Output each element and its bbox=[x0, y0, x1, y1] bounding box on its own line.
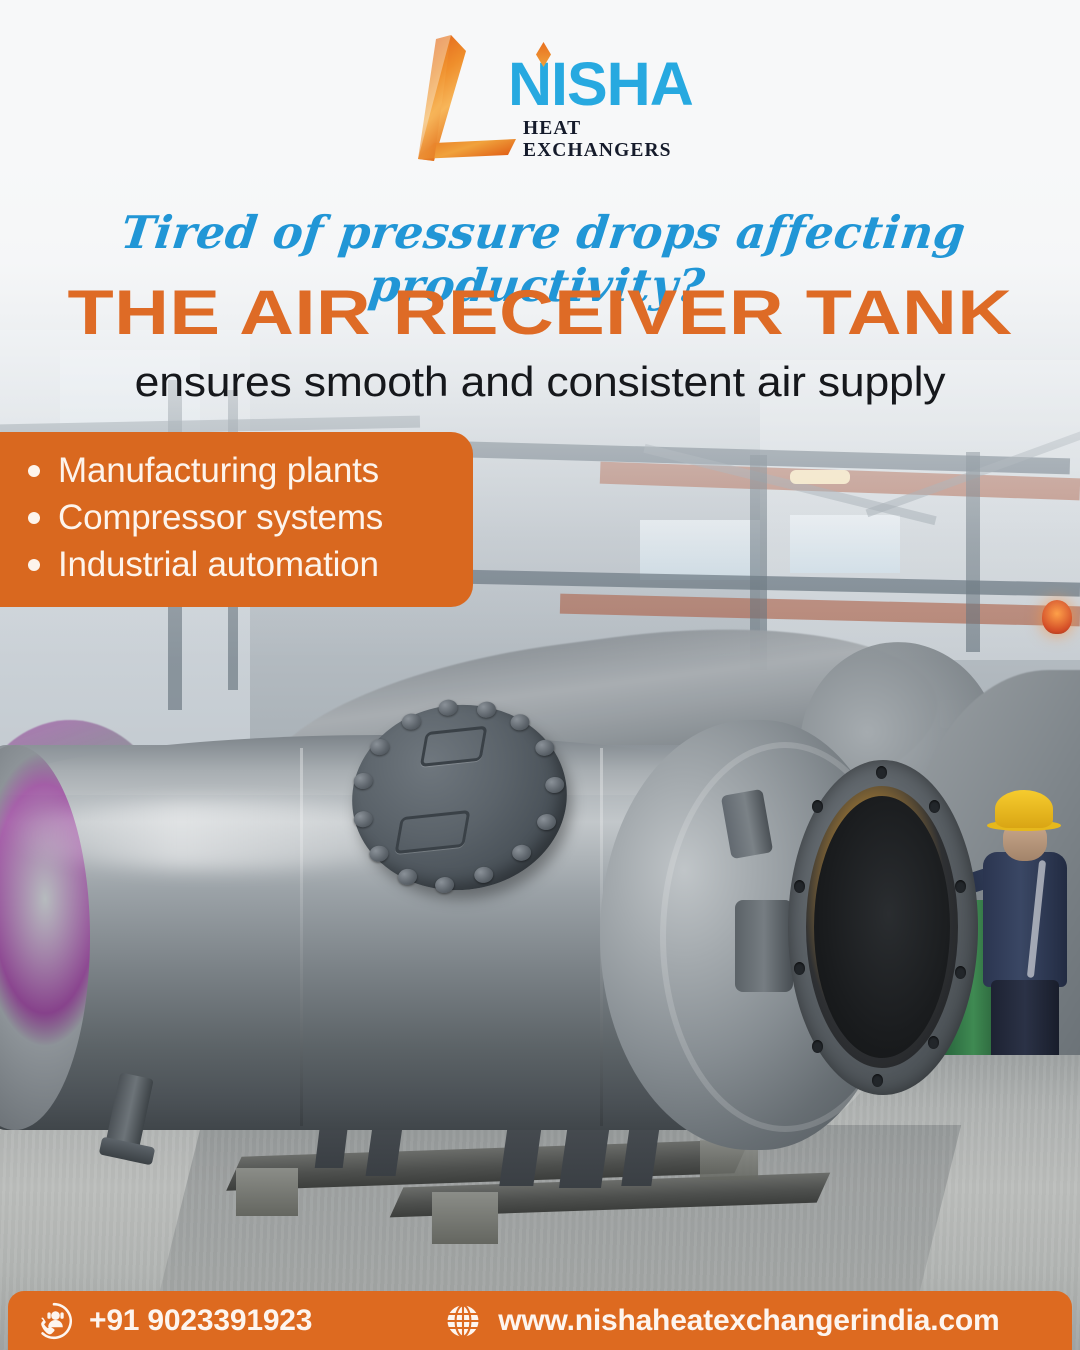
logo-tagline: HEAT EXCHANGERS bbox=[523, 118, 693, 162]
bullet-dot-icon bbox=[28, 465, 40, 477]
manhole-bolt bbox=[353, 772, 374, 790]
manhole-bolt bbox=[544, 776, 565, 794]
flange-bolt-hole bbox=[794, 962, 805, 975]
manhole-bolt bbox=[353, 810, 374, 828]
tank-weld-seam bbox=[300, 748, 303, 1126]
flange-bolt-hole bbox=[812, 800, 823, 813]
manhole-handle-upper bbox=[420, 726, 488, 767]
website-contact[interactable]: www.nishaheatexchangerindia.com bbox=[443, 1301, 999, 1341]
list-item: Industrial automation bbox=[28, 542, 453, 589]
bullet-dot-icon bbox=[28, 512, 40, 524]
manhole-bolt bbox=[536, 813, 557, 831]
contact-footer-bar: +91 9023391923 www.nishaheatexchangerind… bbox=[8, 1291, 1072, 1350]
list-item: Manufacturing plants bbox=[28, 448, 453, 495]
worker-torso bbox=[983, 852, 1067, 987]
product-photo bbox=[0, 0, 1080, 1350]
list-item-label: Manufacturing plants bbox=[58, 448, 379, 495]
manhole-bolt bbox=[476, 701, 497, 719]
social-media-poster: NISHA HEAT EXCHANGERS Tired of pressure … bbox=[0, 0, 1080, 1350]
phone-number: +91 9023391923 bbox=[89, 1304, 312, 1338]
yellow-hard-hat-icon bbox=[995, 790, 1053, 828]
bullet-dot-icon bbox=[28, 559, 40, 571]
manhole-bolt bbox=[438, 699, 459, 717]
website-url: www.nishaheatexchangerindia.com bbox=[498, 1304, 999, 1338]
brand-logo: NISHA HEAT EXCHANGERS bbox=[0, 28, 1080, 178]
flange-bolt-hole bbox=[872, 1074, 883, 1087]
page-title: THE AIR RECEIVER TANK bbox=[0, 277, 1080, 349]
manhole-handle-lower bbox=[394, 810, 470, 854]
nisha-chevron-logo-icon bbox=[390, 33, 520, 173]
manhole-bolt bbox=[510, 713, 531, 731]
flange-bore-opening bbox=[814, 796, 950, 1058]
flange-bolt-hole bbox=[955, 966, 966, 979]
applications-list-box: Manufacturing plants Compressor systems … bbox=[0, 432, 473, 607]
list-item-label: Industrial automation bbox=[58, 542, 379, 589]
manhole-bolt bbox=[397, 868, 418, 886]
list-item-label: Compressor systems bbox=[58, 495, 383, 542]
flange-bolt-hole bbox=[929, 800, 940, 813]
globe-icon bbox=[443, 1301, 483, 1341]
skid-block bbox=[432, 1192, 498, 1244]
skid-block bbox=[236, 1168, 298, 1216]
manhole-bolt bbox=[534, 739, 555, 757]
support-phone-icon bbox=[34, 1301, 74, 1341]
flange-bolt-hole bbox=[928, 1036, 939, 1049]
manhole-bolt bbox=[370, 738, 391, 756]
manhole-bolt bbox=[473, 866, 494, 884]
flange-bolt-hole bbox=[794, 880, 805, 893]
flange-bolt-hole bbox=[876, 766, 887, 779]
page-subtitle: ensures smooth and consistent air supply bbox=[0, 358, 1080, 406]
phone-contact[interactable]: +91 9023391923 bbox=[34, 1301, 312, 1341]
list-item: Compressor systems bbox=[28, 495, 453, 542]
flange-bolt-hole bbox=[812, 1040, 823, 1053]
manhole-bolt bbox=[369, 845, 390, 863]
flange-bolt-hole bbox=[955, 880, 966, 893]
manhole-bolt bbox=[511, 844, 532, 862]
tank-nozzle-stub bbox=[735, 900, 793, 992]
logo-wordmark: NISHA bbox=[508, 56, 693, 114]
manhole-bolt bbox=[401, 713, 422, 731]
